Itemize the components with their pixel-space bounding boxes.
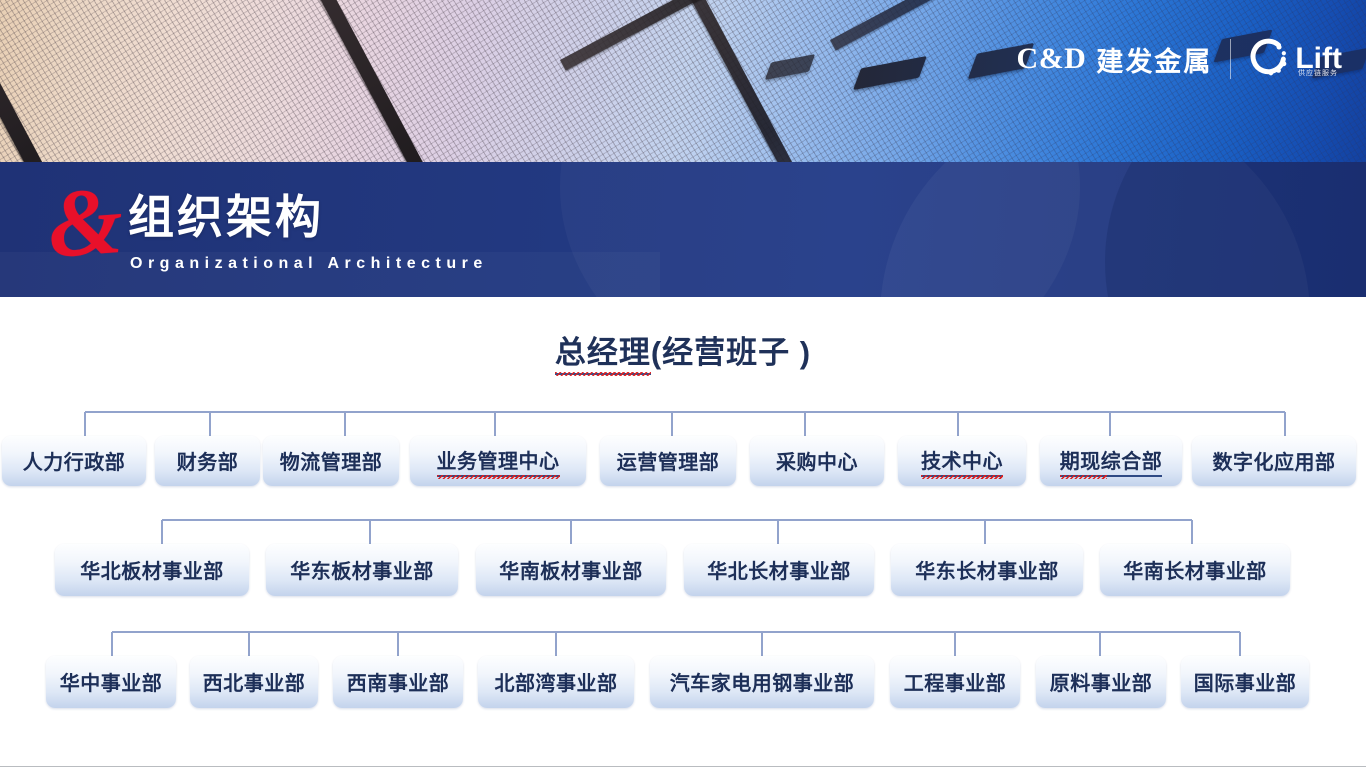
org-node-label: 采购中心 <box>776 446 858 476</box>
org-node-label: 西南事业部 <box>347 667 450 697</box>
org-node-label: 华南长材事业部 <box>1123 555 1267 585</box>
logo-lockup: C&D 建发金属 Lift 供应链服务 <box>1017 30 1342 88</box>
org-node-label: 技术中心 <box>921 445 1003 477</box>
lift-subtitle: 供应链服务 <box>1298 68 1338 78</box>
org-node-label: 北部湾事业部 <box>495 667 618 697</box>
org-node-label: 华东板材事业部 <box>290 555 434 585</box>
org-node-beibu-gulf[interactable]: 北部湾事业部 <box>478 656 634 708</box>
org-node-auto-appliance-steel[interactable]: 汽车家电用钢事业部 <box>650 656 874 708</box>
org-node-logistics[interactable]: 物流管理部 <box>263 436 399 486</box>
org-node-north-long[interactable]: 华北长材事业部 <box>684 544 874 596</box>
org-node-label: 国际事业部 <box>1194 667 1297 697</box>
org-node-procurement[interactable]: 采购中心 <box>750 436 884 486</box>
page-subtitle: Organizational Architecture <box>130 255 488 273</box>
org-node-south-plate[interactable]: 华南板材事业部 <box>476 544 666 596</box>
logo-divider <box>1230 39 1231 79</box>
cd-chinese-wordmark: 建发金属 <box>1096 40 1212 79</box>
org-node-digital-apps[interactable]: 数字化应用部 <box>1192 436 1356 486</box>
org-node-east-plate[interactable]: 华东板材事业部 <box>266 544 458 596</box>
org-node-futures-spot[interactable]: 期现综合部 <box>1040 436 1182 486</box>
org-node-label: 华东长材事业部 <box>915 555 1059 585</box>
org-node-label: 华北长材事业部 <box>707 555 851 585</box>
org-node-finance[interactable]: 财务部 <box>155 436 260 486</box>
org-chart: 总经理(经营班子 ) <box>0 297 1366 773</box>
org-node-label: 期现综合部 <box>1060 445 1163 477</box>
org-node-label: 华北板材事业部 <box>80 555 224 585</box>
org-node-label: 财务部 <box>177 446 239 476</box>
org-node-operations[interactable]: 运营管理部 <box>600 436 736 486</box>
page-bottom-rule <box>0 766 1366 767</box>
org-node-raw-materials[interactable]: 原料事业部 <box>1036 656 1166 708</box>
org-node-label: 业务管理中心 <box>437 445 560 477</box>
org-node-label: 华中事业部 <box>60 667 163 697</box>
org-node-label: 数字化应用部 <box>1213 446 1336 476</box>
org-node-international[interactable]: 国际事业部 <box>1181 656 1309 708</box>
org-node-label: 西北事业部 <box>203 667 306 697</box>
lift-circle-icon <box>1249 38 1291 80</box>
org-node-label: 汽车家电用钢事业部 <box>670 667 855 697</box>
org-node-southwest[interactable]: 西南事业部 <box>333 656 463 708</box>
org-node-label: 华南板材事业部 <box>499 555 643 585</box>
org-node-business-mgmt[interactable]: 业务管理中心 <box>410 436 586 486</box>
hero-banner: C&D 建发金属 Lift 供应链服务 <box>0 0 1366 162</box>
org-node-south-long[interactable]: 华南长材事业部 <box>1100 544 1290 596</box>
org-node-label: 物流管理部 <box>280 446 383 476</box>
ampersand-mark: & <box>45 173 135 271</box>
org-node-label: 人力行政部 <box>23 446 126 476</box>
org-node-technology[interactable]: 技术中心 <box>898 436 1026 486</box>
org-node-northwest[interactable]: 西北事业部 <box>190 656 318 708</box>
org-node-hr-admin[interactable]: 人力行政部 <box>2 436 146 486</box>
org-node-central-china[interactable]: 华中事业部 <box>46 656 176 708</box>
org-node-label: 运营管理部 <box>617 446 720 476</box>
org-node-engineering[interactable]: 工程事业部 <box>890 656 1020 708</box>
org-node-north-plate[interactable]: 华北板材事业部 <box>55 544 249 596</box>
page-title: 组织架构 <box>128 181 324 247</box>
cd-wordmark: C&D <box>1017 42 1087 76</box>
org-node-label: 原料事业部 <box>1050 667 1153 697</box>
decorative-arc <box>1105 162 1366 297</box>
org-node-label: 工程事业部 <box>904 667 1007 697</box>
org-node-east-long[interactable]: 华东长材事业部 <box>891 544 1083 596</box>
